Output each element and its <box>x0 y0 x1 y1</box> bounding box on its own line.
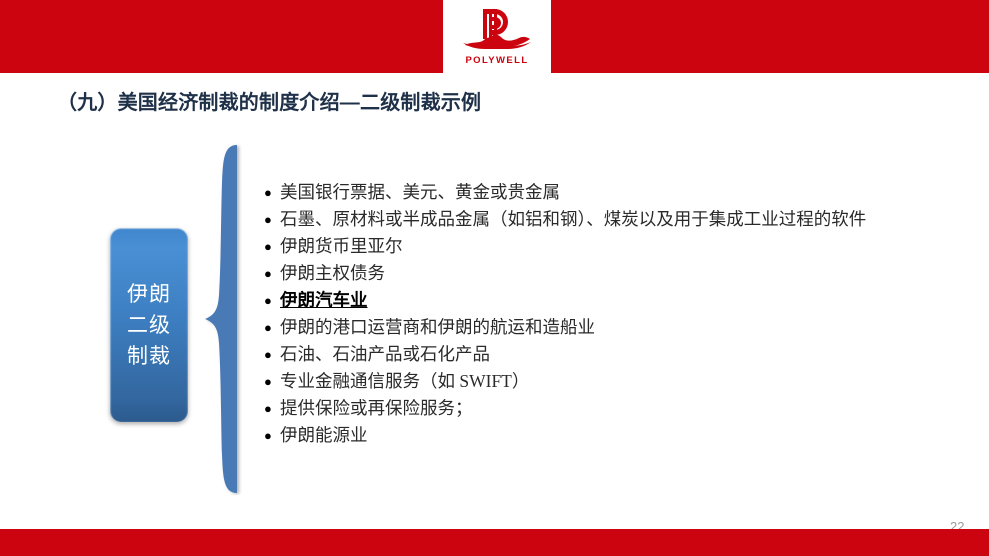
category-box-iran-secondary-sanctions: 伊朗 二级 制裁 <box>110 228 188 422</box>
bullet-dot-icon: ● <box>264 287 280 314</box>
list-item: ● 伊朗的港口运营商和伊朗的航运和造船业 <box>264 314 964 341</box>
category-box-line-1: 伊朗 <box>127 279 171 310</box>
list-item: ● 石墨、原材料或半成品金属（如铝和钢）、煤炭以及用于集成工业过程的软件 <box>264 206 964 233</box>
category-box-label: 伊朗 二级 制裁 <box>127 279 171 372</box>
list-item: ● 伊朗能源业 <box>264 422 964 449</box>
list-item-label: 伊朗能源业 <box>280 422 368 449</box>
list-item-label: 石墨、原材料或半成品金属（如铝和钢）、煤炭以及用于集成工业过程的软件 <box>280 206 866 233</box>
list-item: ● 美国银行票据、美元、黄金或贵金属 <box>264 179 964 206</box>
list-item-label: 伊朗汽车业 <box>280 287 368 314</box>
sanctions-bullet-list: ● 美国银行票据、美元、黄金或贵金属 ● 石墨、原材料或半成品金属（如铝和钢）、… <box>264 179 964 449</box>
bullet-dot-icon: ● <box>264 395 280 422</box>
bullet-dot-icon: ● <box>264 341 280 368</box>
bullet-dot-icon: ● <box>264 368 280 395</box>
presentation-slide: POLYWELL （九）美国经济制裁的制度介绍—二级制裁示例 伊朗 二级 制裁 … <box>0 0 989 556</box>
list-item-label: 专业金融通信服务（如 SWIFT） <box>280 368 529 395</box>
list-item: ● 提供保险或再保险服务； <box>264 395 964 422</box>
category-box-line-2: 二级 <box>127 310 171 341</box>
list-item: ● 伊朗主权债务 <box>264 260 964 287</box>
list-item: ● 石油、石油产品或石化产品 <box>264 341 964 368</box>
list-item: ● 专业金融通信服务（如 SWIFT） <box>264 368 964 395</box>
bullet-dot-icon: ● <box>264 260 280 287</box>
top-banner: POLYWELL <box>0 0 989 73</box>
list-item-label: 伊朗的港口运营商和伊朗的航运和造船业 <box>280 314 595 341</box>
bullet-dot-icon: ● <box>264 422 280 449</box>
list-item: ● 伊朗货币里亚尔 <box>264 233 964 260</box>
bullet-dot-icon: ● <box>264 206 280 233</box>
list-item-highlighted: ● 伊朗汽车业 <box>264 287 964 314</box>
bottom-banner <box>0 529 989 556</box>
list-item-label: 伊朗主权债务 <box>280 260 385 287</box>
list-item-label: 伊朗货币里亚尔 <box>280 233 403 260</box>
list-item-label: 石油、石油产品或石化产品 <box>280 341 490 368</box>
left-curly-brace-shape <box>203 143 251 495</box>
category-box-line-3: 制裁 <box>127 341 171 372</box>
page-title: （九）美国经济制裁的制度介绍—二级制裁示例 <box>57 86 481 115</box>
list-item-label: 美国银行票据、美元、黄金或贵金属 <box>280 179 560 206</box>
polywell-logo-icon <box>461 5 533 56</box>
bullet-dot-icon: ● <box>264 179 280 206</box>
logo-plate: POLYWELL <box>443 0 551 73</box>
bullet-dot-icon: ● <box>264 314 280 341</box>
bullet-dot-icon: ● <box>264 233 280 260</box>
list-item-label: 提供保险或再保险服务； <box>280 395 473 422</box>
logo-wordmark: POLYWELL <box>465 56 528 66</box>
